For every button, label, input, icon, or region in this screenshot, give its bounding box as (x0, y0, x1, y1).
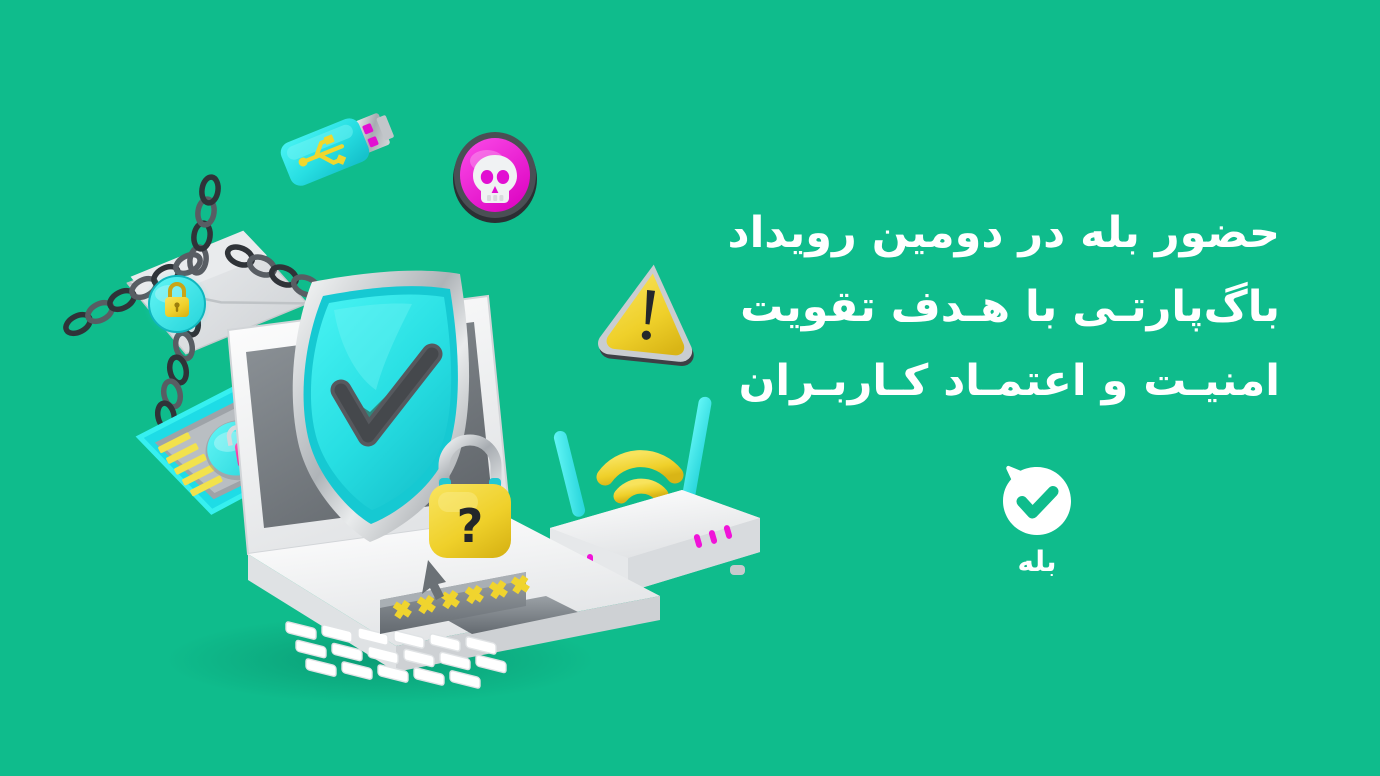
headline-line-3: امنیـت و اعتمـاد کـاربـران (750, 344, 1280, 418)
envelope-lock-badge (143, 270, 211, 338)
headline-line-1: حضور بله در دومین رویداد (750, 196, 1280, 270)
headline-line-2: باگ‌پارتـی با هـدف تقویت (750, 270, 1280, 344)
usb-drive (277, 105, 398, 190)
bale-check-bubble-logo (998, 462, 1076, 540)
skull-badge (453, 132, 537, 223)
headline-block: حضور بله در دومین رویداد باگ‌پارتـی با ه… (750, 196, 1280, 418)
brand-wordmark: بله (1018, 548, 1057, 576)
padlock-question-glyph: ? (457, 499, 484, 553)
banner-canvas: ? (0, 0, 1380, 776)
warning-triangle (597, 260, 703, 368)
security-illustration: ? (40, 60, 800, 750)
brand-logo-block: بله (972, 462, 1102, 576)
